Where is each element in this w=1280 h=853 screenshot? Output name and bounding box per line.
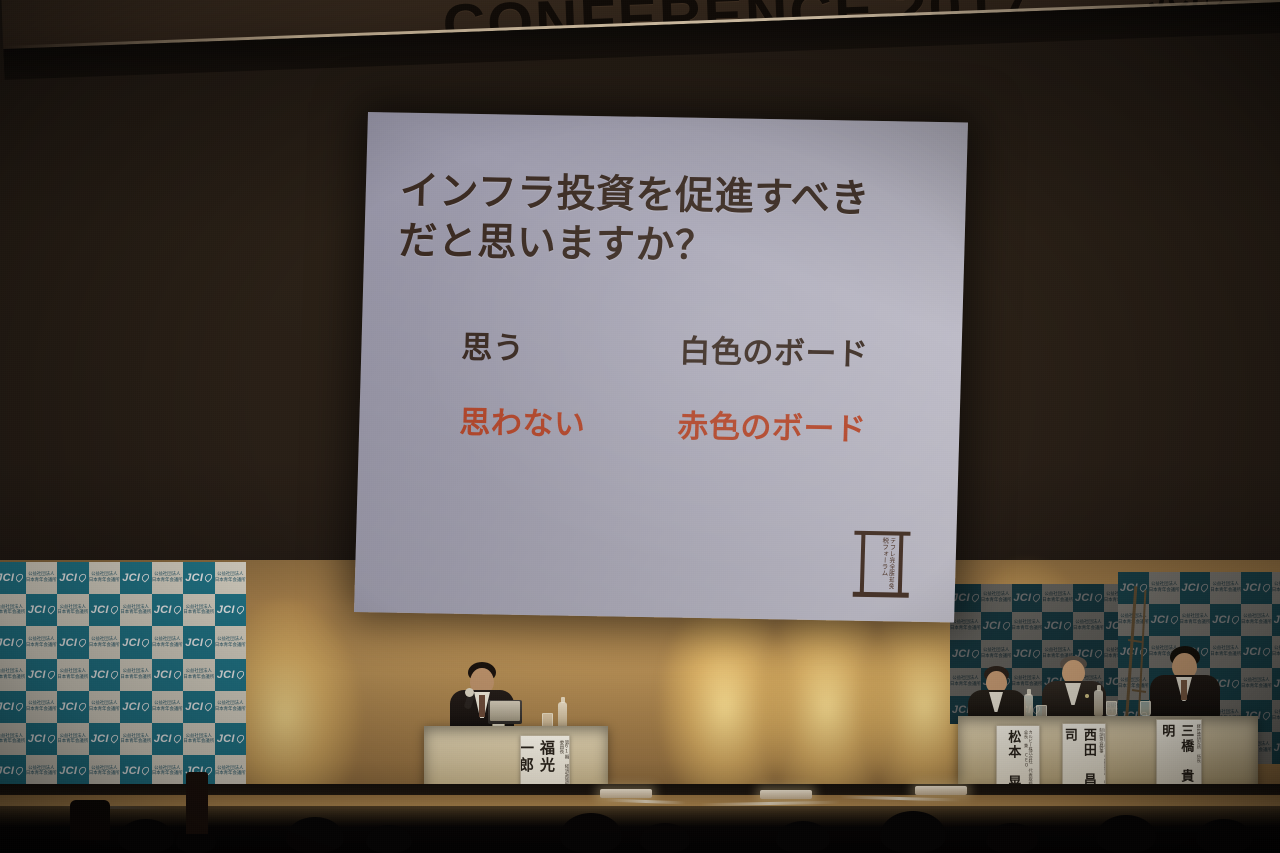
jci-logo-text: JCI [1274,678,1280,690]
jci-org-tile: 公益社団法人日本青年会議所 [152,755,184,787]
jci-logo-tile: JCI [57,626,89,658]
audience-head [1096,815,1156,853]
jci-logo-text: JCI [217,733,244,745]
jci-org-text: 公益社団法人日本青年会議所 [0,605,25,616]
jci-logo-tile: JCI [120,626,152,658]
jci-logo-tile: JCI [1272,732,1280,764]
nameplate-org: カルビー株式会社 代表取締役会長 兼 CEO [1023,730,1032,790]
footlight [600,789,652,798]
jci-logo-text: JCI [91,733,118,745]
jci-org-tile: 公益社団法人日本青年会議所 [89,755,121,787]
jci-org-text: 公益社団法人日本青年会議所 [26,637,57,648]
jci-logo-tile: JCI [1012,640,1043,668]
jci-org-text: 公益社団法人日本青年会議所 [1272,710,1280,721]
jci-logo-tile: JCI [152,594,184,626]
jci-org-tile: 公益社団法人日本青年会議所 [120,594,152,626]
jci-org-tile: 公益社団法人日本青年会議所 [26,562,58,594]
jci-logo-text: JCI [1212,614,1239,626]
nameplate-panelist-2: 西田 昌司 自由民主党 参議院議員 税制調査会幹事 [1062,723,1106,789]
jci-logo-tile: JCI [215,594,247,626]
jci-logo-text: JCI [122,701,149,713]
panelist-3-tie [1181,680,1187,700]
audience-head [986,823,1038,853]
jci-logo-text: JCI [91,669,118,681]
slide-option-board: 赤色のボード [677,400,867,448]
jci-org-text: 公益社団法人日本青年会議所 [1210,582,1241,593]
moderator-tie [479,695,485,717]
location-pin-icon [1003,621,1010,630]
footlight [915,786,967,795]
jci-logo-tile: JCI [1241,572,1272,604]
audience-post [186,772,208,834]
jci-org-text: 公益社団法人日本青年会議所 [152,766,183,777]
jci-logo-text: JCI [1013,648,1040,660]
location-pin-icon [237,734,244,743]
torii-left-post [860,533,866,595]
jci-org-text: 公益社団法人日本青年会議所 [89,572,120,583]
location-pin-icon [142,766,149,775]
jci-logo-tile: JCI [0,755,26,787]
jci-org-text: 公益社団法人日本青年会議所 [152,701,183,712]
jci-logo-tile: JCI [1241,636,1272,668]
panelist-2-lapel-pin [1085,694,1089,698]
location-pin-icon [237,605,244,614]
location-pin-icon [111,734,118,743]
jci-logo-tile: JCI [1272,668,1280,700]
jci-logo-tile: JCI [120,755,152,787]
jci-logo-tile: JCI [26,723,58,755]
location-pin-icon [1232,679,1239,688]
jci-logo-tile: JCI [1042,612,1073,640]
slide-option-board: 白色のボード [679,325,869,373]
location-pin-icon [142,573,149,582]
jci-logo-tile: JCI [1012,584,1043,612]
audience-head [640,823,690,853]
water-bottle [1094,690,1103,716]
jci-org-text: 公益社団法人日本青年会議所 [120,669,151,680]
jci-logo-tile: JCI [215,723,247,755]
jci-logo-tile: JCI [89,594,121,626]
jci-org-text: 公益社団法人日本青年会議所 [89,766,120,777]
jci-org-tile: 公益社団法人日本青年会議所 [215,562,247,594]
jci-org-text: 公益社団法人日本青年会議所 [1149,582,1180,593]
jci-org-tile: 公益社団法人日本青年会議所 [1149,572,1180,604]
jci-org-text: 公益社団法人日本青年会議所 [26,766,57,777]
jci-org-text: 公益社団法人日本青年会議所 [57,669,88,680]
nameplate-org: 経世論研究所 所長 [1196,724,1201,763]
location-pin-icon [1201,583,1208,592]
location-pin-icon [48,605,55,614]
jci-org-tile: 公益社団法人日本青年会議所 [120,723,152,755]
jci-logo-text: JCI [1243,646,1270,658]
panelist-glassware-2 [1092,688,1122,718]
jci-org-tile: 公益社団法人日本青年会議所 [1272,572,1280,604]
location-pin-icon [1263,711,1270,720]
jci-org-text: 公益社団法人日本青年会議所 [152,572,183,583]
jci-org-tile: 公益社団法人日本青年会議所 [1012,612,1043,640]
jci-org-tile: 公益社団法人日本青年会議所 [215,755,247,787]
jci-logo-text: JCI [217,604,244,616]
jci-org-tile: 公益社団法人日本青年会議所 [89,691,121,723]
jci-logo-tile: JCI [152,723,184,755]
jci-logo-text: JCI [28,669,55,681]
jci-org-tile: 公益社団法人日本青年会議所 [26,626,58,658]
jci-org-text: 公益社団法人日本青年会議所 [152,637,183,648]
jci-org-text: 公益社団法人日本青年会議所 [120,734,151,745]
jci-org-text: 公益社団法人日本青年会議所 [981,648,1012,659]
jci-org-text: 公益社団法人日本青年会議所 [1073,620,1104,631]
jci-logo-text: JCI [154,733,181,745]
jci-logo-tile: JCI [215,659,247,691]
jci-logo-text: JCI [122,572,149,584]
jci-org-text: 公益社団法人日本青年会議所 [215,766,246,777]
jci-logo-tile: JCI [1149,604,1180,636]
jci-org-tile: 公益社団法人日本青年会議所 [1241,604,1272,636]
jci-logo-text: JCI [0,572,23,584]
jci-org-tile: 公益社団法人日本青年会議所 [1272,700,1280,732]
jci-org-text: 公益社団法人日本青年会議所 [1042,592,1073,603]
jci-org-tile: 公益社団法人日本青年会議所 [57,723,89,755]
jci-logo-text: JCI [983,620,1010,632]
footlight [760,790,812,799]
jci-logo-text: JCI [59,765,86,777]
location-pin-icon [79,573,86,582]
jci-logo-tile: JCI [0,562,26,594]
jci-org-tile: 公益社団法人日本青年会議所 [1073,612,1104,640]
location-pin-icon [1064,621,1071,630]
location-pin-icon [1095,593,1102,602]
jci-org-text: 公益社団法人日本青年会議所 [1241,614,1272,625]
water-bottle [558,702,567,728]
jci-logo-tile: JCI [981,612,1012,640]
location-pin-icon [1232,615,1239,624]
water-glass [1106,701,1117,716]
location-pin-icon [48,734,55,743]
jci-org-text: 公益社団法人日本青年会議所 [215,637,246,648]
audience-head [366,825,412,853]
jci-org-text: 公益社団法人日本青年会議所 [0,734,25,745]
jci-logo-text: JCI [185,572,212,584]
jci-org-text: 公益社団法人日本青年会議所 [1180,614,1211,625]
audience-head [1196,819,1252,853]
jci-org-text: 公益社団法人日本青年会議所 [215,701,246,712]
jci-logo-tile: JCI [57,562,89,594]
location-pin-icon [16,638,23,647]
jci-logo-tile: JCI [1272,604,1280,636]
jci-logo-text: JCI [122,765,149,777]
jci-logo-text: JCI [59,637,86,649]
location-pin-icon [111,670,118,679]
jci-org-text: 公益社団法人日本青年会議所 [183,734,214,745]
jci-logo-tile: JCI [57,755,89,787]
jci-logo-tile: JCI [950,640,981,668]
jci-org-tile: 公益社団法人日本青年会議所 [1042,584,1073,612]
slide-option-row: 思う 白色のボード [461,322,932,375]
slide-title-line-2: だと思いますか？ [398,217,935,276]
jci-logo-text: JCI [122,637,149,649]
jci-org-tile: 公益社団法人日本青年会議所 [215,691,247,723]
jci-logo-tile: JCI [89,723,121,755]
location-pin-icon [174,670,181,679]
jci-logo-text: JCI [1151,614,1178,626]
jci-logo-text: JCI [91,604,118,616]
jci-org-text: 公益社団法人日本青年会議所 [183,605,214,616]
jci-org-tile: 公益社団法人日本青年会議所 [215,626,247,658]
jci-logo-text: JCI [217,669,244,681]
jci-logo-tile: JCI [0,626,26,658]
nameplate-name: 松本 晃 [1003,730,1022,790]
projection-screen-area: インフラ投資を促進すべき だと思いますか？ 思う 白色のボード [356,112,978,622]
jci-logo-tile: JCI [183,691,215,723]
jci-org-text: 公益社団法人日本青年会議所 [89,637,120,648]
laptop-screen [490,701,520,721]
jci-org-tile: 公益社団法人日本青年会議所 [26,755,58,787]
jci-org-text: 公益社団法人日本青年会議所 [89,701,120,712]
jci-logo-tile: JCI [152,659,184,691]
jci-org-text: 公益社団法人日本青年会議所 [120,605,151,616]
jci-logo-tile: JCI [26,594,58,626]
location-pin-icon [174,605,181,614]
water-glass [1140,701,1151,716]
jci-org-tile: 公益社団法人日本青年会議所 [1210,572,1241,604]
jci-logo-text: JCI [0,637,23,649]
nameplate-name: 西田 昌司 [1062,728,1098,788]
audience-head [560,813,622,853]
location-pin-icon [972,649,979,658]
projection-screen: インフラ投資を促進すべき だと思いますか？ 思う 白色のボード [354,112,968,623]
jci-org-tile: 公益社団法人日本青年会議所 [1272,636,1280,668]
location-pin-icon [1033,593,1040,602]
nameplate-name: 三橋 貴明 [1157,724,1195,786]
jci-org-text: 公益社団法人日本青年会議所 [1118,678,1149,689]
jci-org-text: 公益社団法人日本青年会議所 [57,734,88,745]
jci-logo-text: JCI [185,701,212,713]
jci-org-tile: 公益社団法人日本青年会議所 [89,562,121,594]
jci-org-tile: 公益社団法人日本青年会議所 [1241,668,1272,700]
jci-org-text: 公益社団法人日本青年会議所 [57,605,88,616]
audience-head [118,819,174,853]
jci-logo-text: JCI [1044,620,1071,632]
location-pin-icon [79,638,86,647]
location-pin-icon [1263,647,1270,656]
jci-logo-text: JCI [1274,614,1280,626]
location-pin-icon [174,734,181,743]
jci-org-text: 公益社団法人日本青年会議所 [1241,678,1272,689]
jci-logo-text: JCI [1181,582,1208,594]
location-pin-icon [111,605,118,614]
jci-org-text: 公益社団法人日本青年会議所 [26,701,57,712]
location-pin-icon [205,638,212,647]
jci-org-text: 公益社団法人日本青年会議所 [981,592,1012,603]
jci-logo-tile: JCI [183,626,215,658]
jci-logo-tile: JCI [183,562,215,594]
jci-org-tile: 公益社団法人日本青年会議所 [183,659,215,691]
option-board-label: 赤色のボード [677,408,867,447]
jci-org-tile: 公益社団法人日本青年会議所 [57,594,89,626]
jci-org-text: 公益社団法人日本青年会議所 [215,572,246,583]
location-pin-icon [205,702,212,711]
slide-title-line-1: インフラ投資を促進すべき [399,167,936,226]
jci-logo-tile: JCI [1180,572,1211,604]
option-answer-label: 思う [461,330,525,367]
jci-logo-text: JCI [154,669,181,681]
jci-org-text: 公益社団法人日本青年会議所 [1272,582,1280,593]
jci-logo-text: JCI [59,572,86,584]
jci-org-text: 公益社団法人日本青年会議所 [1012,620,1043,631]
audience-head [286,817,344,853]
jci-logo-text: JCI [1274,742,1280,754]
jci-org-tile: 公益社団法人日本青年会議所 [0,594,26,626]
slide-option-row: 思わない 赤色のボード [459,397,930,450]
jci-logo-tile: JCI [89,659,121,691]
jci-org-tile: 公益社団法人日本青年会議所 [152,626,184,658]
jci-org-tile: 公益社団法人日本青年会議所 [981,584,1012,612]
location-pin-icon [205,573,212,582]
jci-org-tile: 公益社団法人日本青年会議所 [981,640,1012,668]
jci-logo-tile: JCI [1073,584,1104,612]
jci-org-tile: 公益社団法人日本青年会議所 [26,691,58,723]
jci-logo-text: JCI [185,637,212,649]
location-pin-icon [237,670,244,679]
nameplate-panelist-1: 松本 晃 カルビー株式会社 代表取締役会長 兼 CEO [996,725,1040,791]
jci-logo-tile: JCI [0,691,26,723]
torii-logo-text: デフレ完全脱却免税フォーラム [870,537,896,595]
jci-org-tile: 公益社団法人日本青年会議所 [0,723,26,755]
jci-org-tile: 公益社団法人日本青年会議所 [152,691,184,723]
slide-title: インフラ投資を促進すべき だと思いますか？ [398,167,937,276]
location-pin-icon [79,766,86,775]
jci-logo-tile: JCI [120,691,152,723]
jci-org-tile: 公益社団法人日本青年会議所 [120,659,152,691]
jci-org-tile: 公益社団法人日本青年会議所 [89,626,121,658]
option-answer-label: 思わない [459,405,586,443]
torii-forum-logo-icon: デフレ完全脱却免税フォーラム [853,525,911,602]
jci-logo-text: JCI [28,604,55,616]
location-pin-icon [16,702,23,711]
jci-logo-tile: JCI [26,659,58,691]
jci-logo-text: JCI [59,701,86,713]
jci-logo-text: JCI [1243,582,1270,594]
jci-logo-tile: JCI [120,562,152,594]
location-pin-icon [142,638,149,647]
jci-org-text: 公益社団法人日本青年会議所 [0,669,25,680]
slide-option-answer: 思わない [459,397,678,446]
location-pin-icon [16,766,23,775]
audience-head [880,811,946,853]
microphone-head [465,688,474,697]
jci-org-tile: 公益社団法人日本青年会議所 [57,659,89,691]
jci-logo-text: JCI [0,765,23,777]
nameplate-panelist-3: 三橋 貴明 経世論研究所 所長 [1156,719,1202,787]
option-board-label: 白色のボード [679,333,869,372]
location-pin-icon [16,573,23,582]
slide-option-answer: 思う [461,322,680,371]
jci-org-tile: 公益社団法人日本青年会議所 [1180,604,1211,636]
jci-logo-text: JCI [28,733,55,745]
jci-org-tile: 公益社団法人日本青年会議所 [152,562,184,594]
location-pin-icon [79,702,86,711]
jci-org-tile: 公益社団法人日本青年会議所 [183,723,215,755]
jci-org-text: 公益社団法人日本青年会議所 [183,669,214,680]
jci-logo-text: JCI [952,648,979,660]
audience-head [776,821,830,853]
slide-options-list: 思う 白色のボード 思わない 赤色のボード [393,320,932,449]
jci-logo-text: JCI [154,604,181,616]
location-pin-icon [1171,615,1178,624]
location-pin-icon [142,702,149,711]
conference-hall-scene: CONFERENCE 2017 JCI JCI公益社団法人日本青年会議所JCI公… [0,0,1280,853]
jci-logo-text: JCI [0,701,23,713]
jci-org-text: 公益社団法人日本青年会議所 [1272,646,1280,657]
jci-logo-text: JCI [1013,592,1040,604]
location-pin-icon [48,670,55,679]
jci-logo-tile: JCI [57,691,89,723]
jci-logo-tile: JCI [1210,604,1241,636]
nameplate-org: 自由民主党 参議院議員 税制調査会幹事 [1099,728,1106,788]
jci-logo-text: JCI [1075,592,1102,604]
jci-org-tile: 公益社団法人日本青年会議所 [183,594,215,626]
torii-right-post [898,534,904,596]
jci-org-tile: 公益社団法人日本青年会議所 [0,659,26,691]
audience-post [70,800,110,840]
jci-org-text: 公益社団法人日本青年会議所 [26,572,57,583]
location-pin-icon [1263,583,1270,592]
